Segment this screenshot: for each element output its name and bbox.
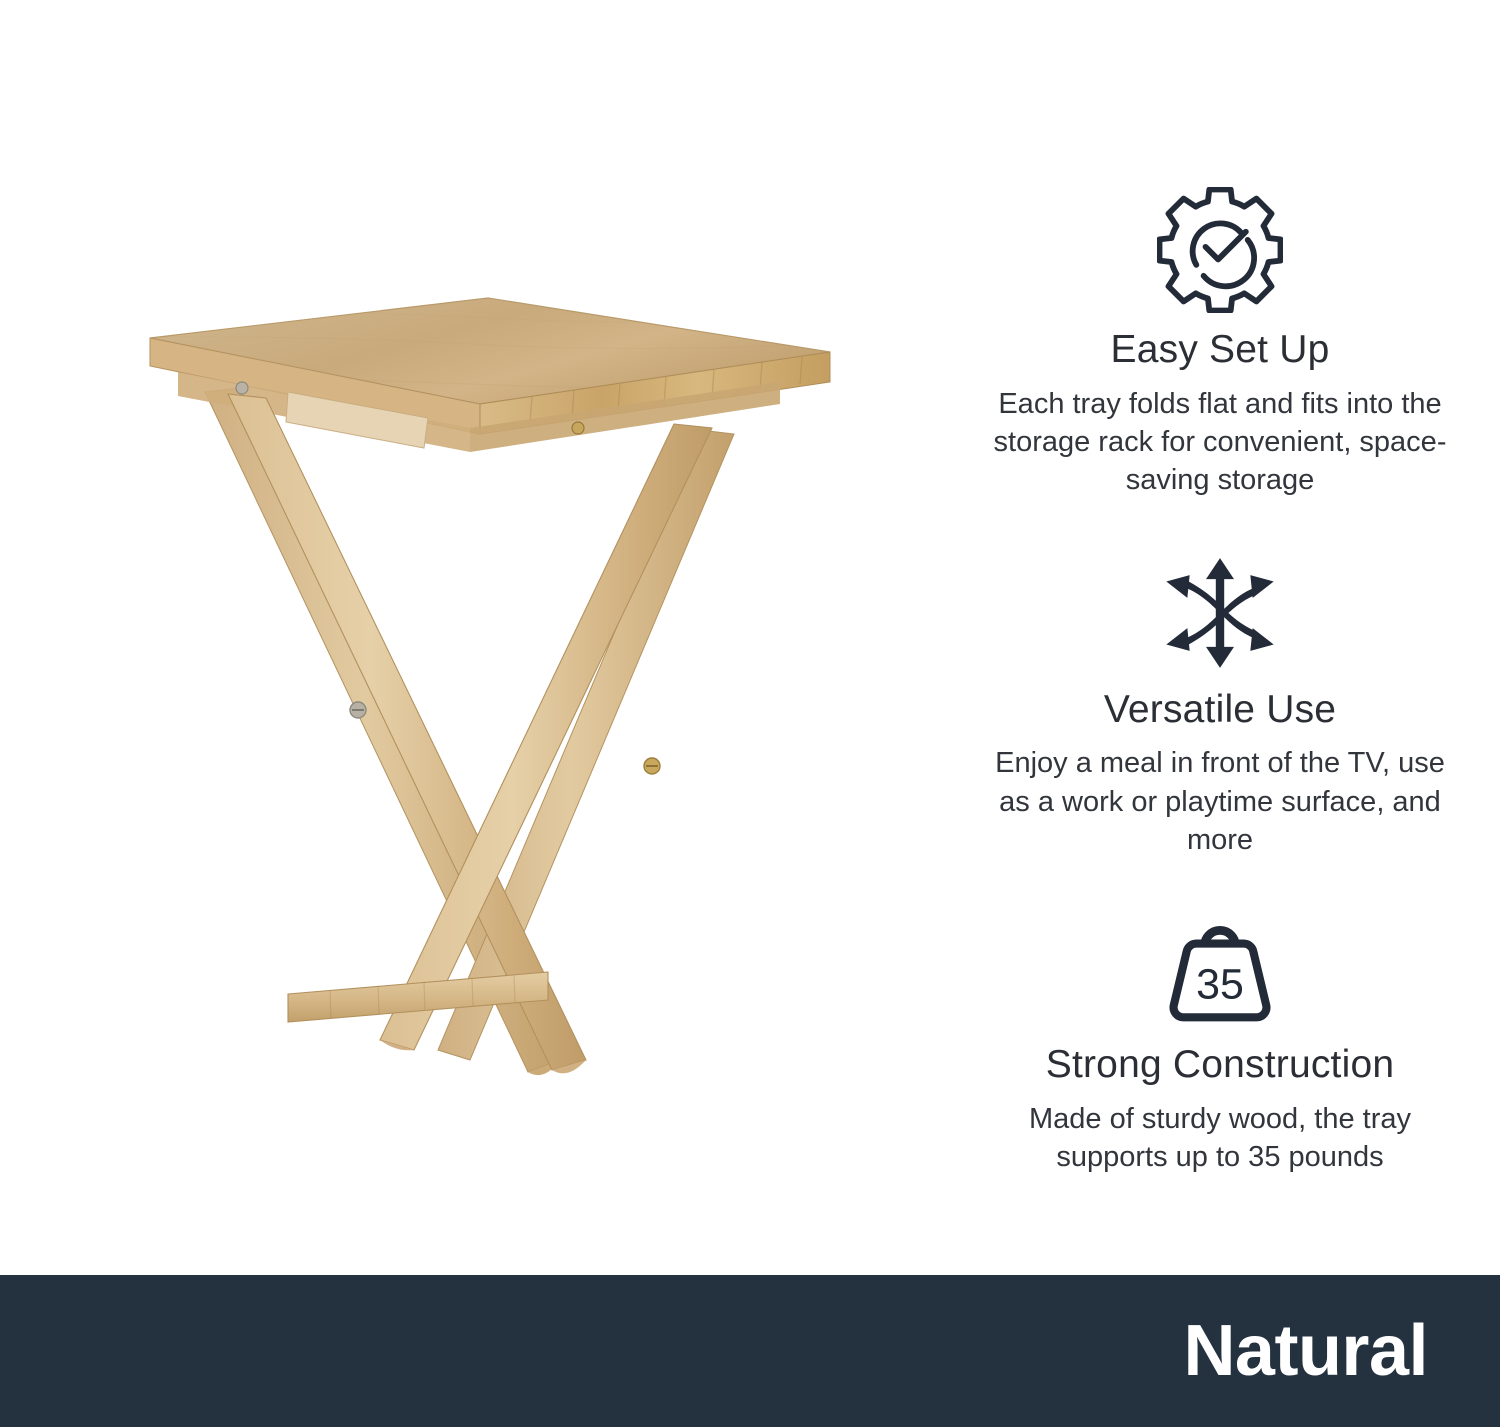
- bracket-screw-right: [572, 422, 584, 434]
- table-leg-rear-right: [438, 430, 734, 1060]
- multi-direction-arrows-icon-wrap: [1161, 552, 1279, 674]
- bracket-screw-left: [236, 382, 248, 394]
- pivot-screw-left: [350, 702, 366, 718]
- multi-direction-arrows-icon: [1161, 557, 1279, 669]
- weight-value: 35: [1196, 961, 1244, 1009]
- feature-description: Made of sturdy wood, the tray supports u…: [985, 1100, 1455, 1177]
- color-variant-banner: Natural: [0, 1275, 1500, 1427]
- feature-title: Versatile Use: [1104, 688, 1336, 733]
- feature-strong-construction: 35 Strong Construction Made of sturdy wo…: [970, 911, 1470, 1176]
- table-foot-left: [246, 1012, 288, 1066]
- gear-check-icon: [1157, 187, 1283, 313]
- color-variant-label: Natural: [1183, 1315, 1500, 1387]
- weight-35-icon: 35: [1156, 915, 1284, 1025]
- feature-list: Easy Set Up Each tray folds flat and fit…: [940, 0, 1500, 1275]
- table-leg-rear-right-outer: [726, 436, 766, 1058]
- pivot-screw-right: [644, 758, 660, 774]
- feature-description: Enjoy a meal in front of the TV, use as …: [985, 744, 1455, 859]
- gear-check-icon-wrap: [1157, 186, 1283, 314]
- feature-versatile-use: Versatile Use Enjoy a meal in front of t…: [970, 552, 1470, 860]
- weight-35-icon-wrap: 35: [1156, 911, 1284, 1029]
- infographic-page: Easy Set Up Each tray folds flat and fit…: [0, 0, 1500, 1427]
- feature-title: Easy Set Up: [1111, 328, 1330, 373]
- feature-title: Strong Construction: [1046, 1043, 1394, 1088]
- feature-easy-set-up: Easy Set Up Each tray folds flat and fit…: [970, 186, 1470, 500]
- feature-description: Each tray folds flat and fits into the s…: [985, 385, 1455, 500]
- folding-tray-table-illustration: [0, 0, 940, 1275]
- product-photo: [0, 0, 940, 1275]
